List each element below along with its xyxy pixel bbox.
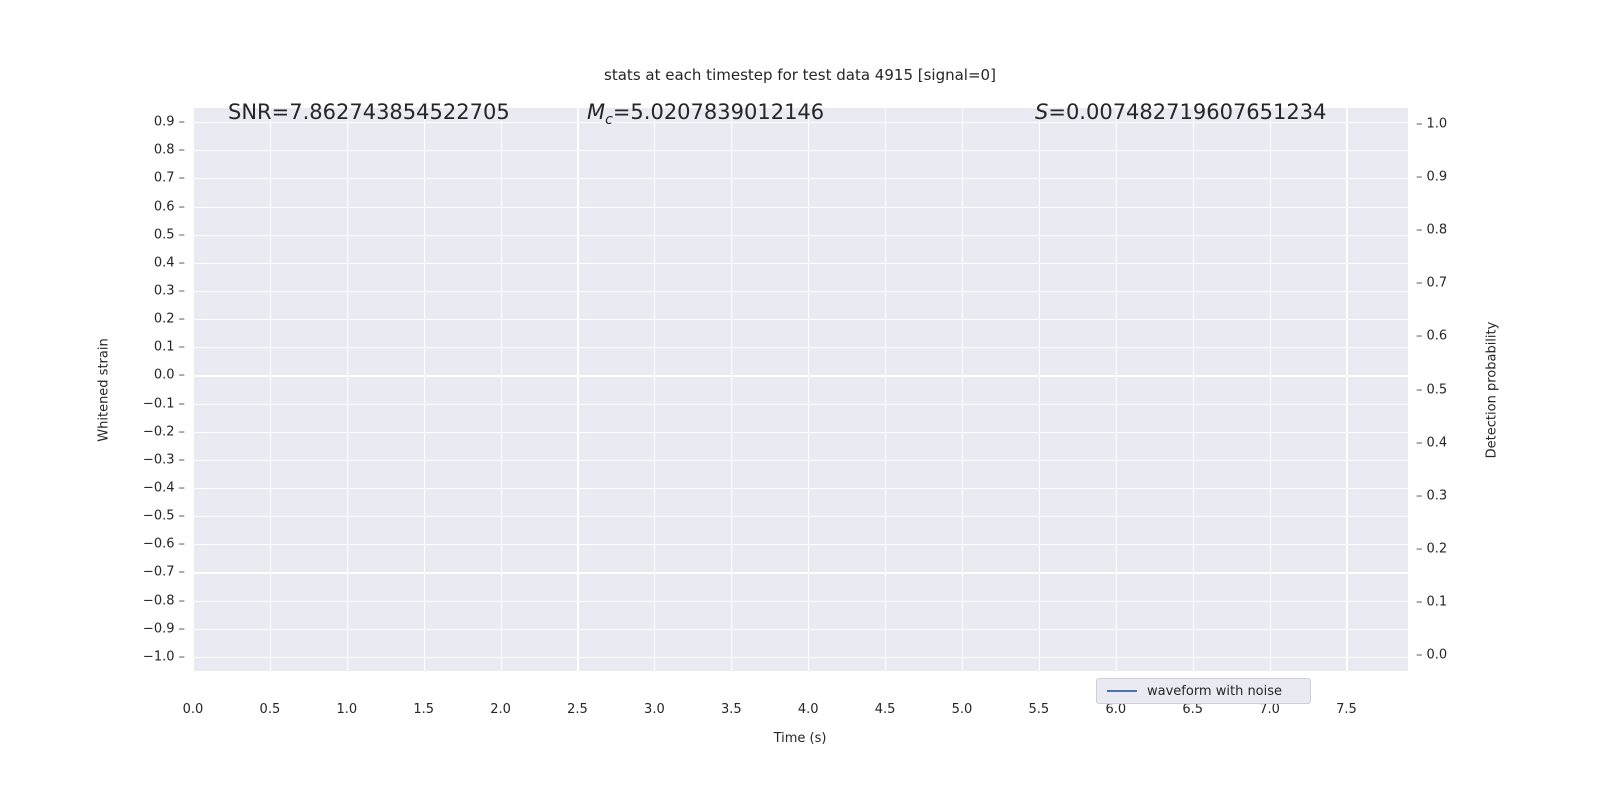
gridline-horizontal	[193, 178, 1408, 179]
y-tick-right: –0.1	[1416, 594, 1447, 609]
plot-background	[193, 108, 1408, 671]
gridline-horizontal	[193, 488, 1408, 489]
gridline-horizontal	[193, 601, 1408, 602]
gridline-horizontal	[193, 629, 1408, 630]
y-tick-left: −0.4–	[143, 481, 185, 496]
y-tick-left: −0.8–	[143, 593, 185, 608]
gridline-horizontal	[193, 150, 1408, 151]
y-tick-left: −0.7–	[143, 565, 185, 580]
y-tick-right: –0.3	[1416, 488, 1447, 503]
y-tick-left: −0.6–	[143, 537, 185, 552]
s-value: =0.007482719607651234	[1048, 100, 1326, 124]
x-tick: 1.5	[413, 702, 434, 717]
annotation-mchirp: Mc=5.0207839012146	[587, 100, 824, 128]
gridline-horizontal	[193, 404, 1408, 405]
y-tick-left: 0.4–	[154, 255, 185, 270]
y-tick-right: –0.2	[1416, 541, 1447, 556]
gridline-vertical	[962, 108, 963, 671]
y-tick-right: –0.9	[1416, 170, 1447, 185]
gridline-vertical	[1270, 108, 1271, 671]
y-tick-left: 0.3–	[154, 283, 185, 298]
x-tick: 2.0	[490, 702, 511, 717]
gridline-horizontal	[193, 207, 1408, 208]
x-tick: 7.5	[1336, 702, 1357, 717]
x-tick: 3.0	[644, 702, 665, 717]
gridline-vertical	[808, 108, 809, 671]
y-tick-right: –0.4	[1416, 435, 1447, 450]
gridline-horizontal	[193, 347, 1408, 348]
gridline-horizontal	[193, 432, 1408, 433]
x-tick: 4.0	[798, 702, 819, 717]
gridline-horizontal	[193, 572, 1408, 573]
x-tick: 1.0	[336, 702, 357, 717]
x-tick: 6.5	[1182, 702, 1203, 717]
y-tick-left: −0.1–	[143, 396, 185, 411]
plot-area	[193, 108, 1408, 671]
gridline-vertical	[885, 108, 886, 671]
gridline-vertical	[424, 108, 425, 671]
gridline-vertical	[1116, 108, 1117, 671]
gridline-vertical	[501, 108, 502, 671]
y-axis-label-right: Detection probability	[1485, 322, 1500, 459]
legend-swatch-waveform	[1107, 690, 1137, 692]
y-axis-label-left: Whitened strain	[97, 338, 112, 441]
annotation-s: S=0.007482719607651234	[1035, 100, 1326, 124]
y-tick-left: 0.7–	[154, 171, 185, 186]
y-tick-left: −0.5–	[143, 509, 185, 524]
mc-symbol: M	[587, 100, 605, 124]
chart-title: stats at each timestep for test data 491…	[0, 66, 1600, 84]
x-tick: 5.0	[952, 702, 973, 717]
y-tick-right: –1.0	[1416, 116, 1447, 131]
x-tick: 7.0	[1259, 702, 1280, 717]
gridline-vertical	[731, 108, 732, 671]
y-tick-right: –0.7	[1416, 276, 1447, 291]
y-tick-left: 0.1–	[154, 340, 185, 355]
y-tick-left: −0.2–	[143, 424, 185, 439]
x-tick: 4.5	[875, 702, 896, 717]
gridline-horizontal	[193, 544, 1408, 545]
gridline-horizontal	[193, 375, 1408, 376]
x-tick: 5.5	[1029, 702, 1050, 717]
gridline-horizontal	[193, 460, 1408, 461]
x-tick: 3.5	[721, 702, 742, 717]
gridline-vertical	[193, 108, 194, 671]
x-axis-label: Time (s)	[774, 731, 827, 746]
gridline-vertical	[654, 108, 655, 671]
y-tick-right: –0.0	[1416, 648, 1447, 663]
y-tick-right: –0.5	[1416, 382, 1447, 397]
mc-value: =5.0207839012146	[613, 100, 824, 124]
y-tick-left: 0.9–	[154, 115, 185, 130]
gridline-horizontal	[193, 657, 1408, 658]
gridline-vertical	[347, 108, 348, 671]
y-tick-right: –0.6	[1416, 329, 1447, 344]
x-tick: 6.0	[1105, 702, 1126, 717]
gridline-vertical	[1346, 108, 1347, 671]
y-tick-left: 0.8–	[154, 143, 185, 158]
legend-label-waveform: waveform with noise	[1147, 684, 1282, 699]
annotation-snr: SNR=7.862743854522705	[228, 100, 510, 124]
gridline-vertical	[1193, 108, 1194, 671]
gridline-horizontal	[193, 291, 1408, 292]
gridline-horizontal	[193, 516, 1408, 517]
s-symbol: S	[1035, 100, 1048, 124]
gridline-horizontal	[193, 319, 1408, 320]
x-tick: 0.0	[183, 702, 204, 717]
x-tick: 0.5	[260, 702, 281, 717]
gridline-vertical	[270, 108, 271, 671]
y-tick-left: −0.3–	[143, 452, 185, 467]
legend[interactable]: waveform with noise	[1096, 678, 1311, 704]
y-tick-left: 0.0–	[154, 368, 185, 383]
figure-canvas: stats at each timestep for test data 491…	[0, 0, 1600, 800]
x-tick: 2.5	[567, 702, 588, 717]
gridline-vertical	[1039, 108, 1040, 671]
gridline-horizontal	[193, 235, 1408, 236]
y-tick-left: 0.2–	[154, 312, 185, 327]
gridline-horizontal	[193, 263, 1408, 264]
y-tick-right: –0.8	[1416, 223, 1447, 238]
y-tick-left: −1.0–	[143, 649, 185, 664]
gridline-vertical	[577, 108, 578, 671]
y-tick-left: 0.5–	[154, 227, 185, 242]
y-tick-left: 0.6–	[154, 199, 185, 214]
mc-subscript: c	[605, 112, 613, 128]
y-tick-left: −0.9–	[143, 621, 185, 636]
